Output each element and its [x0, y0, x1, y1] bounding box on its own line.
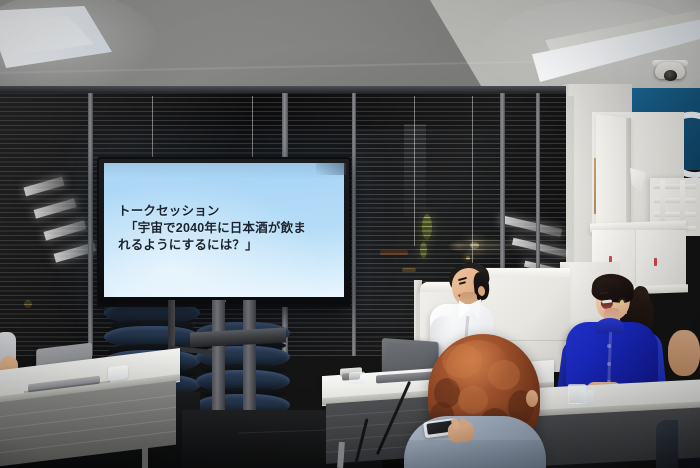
woman-blouse-button [607, 362, 611, 366]
panel-groove [0, 407, 176, 431]
window-mullion-1 [88, 88, 93, 356]
window-mullion-3 [352, 88, 356, 356]
leaning-white-board [596, 114, 628, 229]
red-marking-2 [654, 258, 657, 266]
foreground-person-hair-highlight [446, 340, 510, 394]
photo-scene: トークセッション 「宇宙で2040年に日本酒が飲ま れるようにするには？」 [0, 0, 700, 468]
slide-line-1: トークセッション [118, 203, 342, 220]
person-right-shoulder [656, 420, 678, 468]
white-storage-box-2 [636, 230, 686, 292]
foreground-person-ear [526, 390, 538, 407]
screen-corner-shade [316, 163, 346, 175]
slide-line-3: れるようにするには？」 [118, 237, 342, 254]
person-right-head [668, 330, 700, 376]
woman-blouse-button [607, 344, 611, 348]
panel-groove [0, 395, 176, 419]
cup-on-left-table [108, 365, 128, 381]
woman-earring [620, 300, 624, 305]
blinds-cord-4[interactable] [472, 96, 473, 266]
blinds-cord-3[interactable] [414, 96, 415, 246]
drinking-glass-2 [580, 390, 594, 406]
dome-camera-lens [664, 70, 677, 81]
glass-on-center-table [349, 371, 365, 384]
slide-line-2: 「宇宙で2040年に日本酒が飲ま [125, 220, 342, 237]
table-left-leg [142, 440, 148, 468]
foreground-person-shirt-shadow [404, 440, 546, 468]
panel-groove [0, 419, 176, 443]
blinds-headrail [0, 86, 566, 93]
leaning-white-board-edge [626, 118, 631, 229]
slide-text-block: トークセッション 「宇宙で2040年に日本酒が飲ま れるようにするには？」 [118, 203, 342, 253]
